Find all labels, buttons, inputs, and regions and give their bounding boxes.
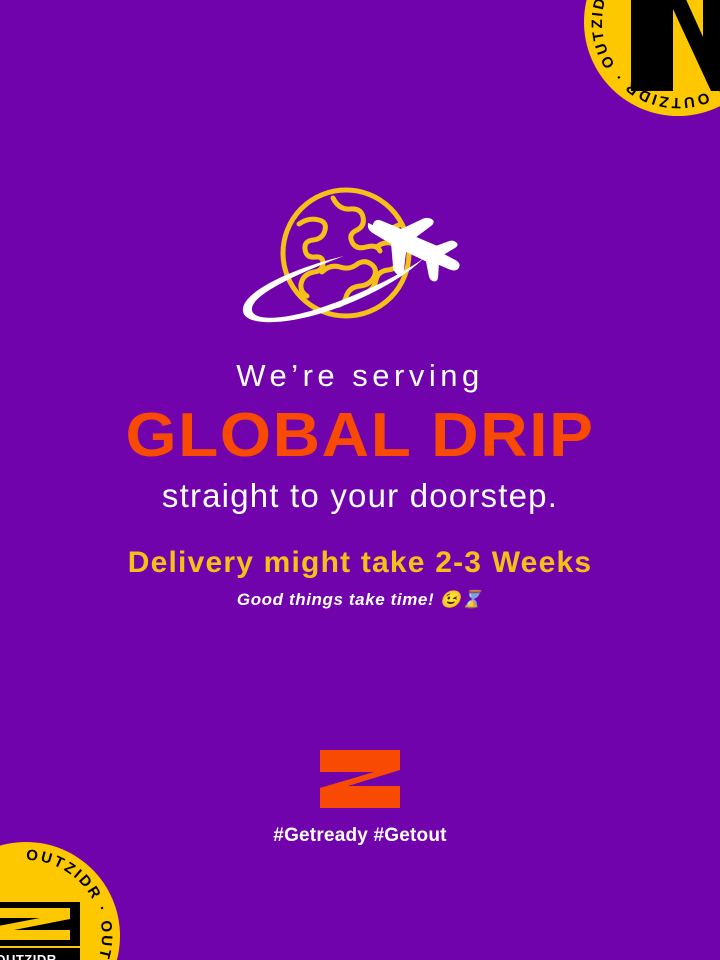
brand-badge-bottom-left: OUTZIDR · OUTZIDR · OUTZIDR · OUTZIDR · … — [0, 842, 120, 960]
z-logo-icon — [609, 0, 720, 97]
subhead-text: straight to your doorstep. — [0, 479, 720, 512]
page-title: GLOBAL DRIP — [0, 405, 720, 479]
badge-z-block — [0, 902, 80, 946]
z-logo-icon — [318, 748, 402, 810]
footer-tagline: #Getready #Getout — [273, 826, 446, 845]
outzidr-z-logo — [318, 748, 402, 810]
z-logo-icon — [0, 907, 72, 941]
promo-poster: We’re serving GLOBAL DRIP straight to yo… — [0, 0, 720, 960]
footer-block: #Getready #Getout — [0, 748, 720, 845]
outzidr-wordmark: OUTZIDR — [0, 951, 74, 960]
delivery-estimate-text: Delivery might take 2-3 Weeks — [0, 548, 720, 591]
brand-badge-top-right: OUTZIDR · OUTZIDR · OUTZIDR · OUTZIDR · — [584, 0, 720, 116]
badge-wordmark-text: OUTZIDR — [0, 952, 57, 960]
kicker-text: We’re serving — [0, 360, 720, 405]
badge-wordmark-block: OUTZIDR — [0, 948, 80, 960]
badge-core-bottom-left: OUTZIDR — [0, 899, 86, 960]
badge-mark-top-right — [609, 0, 720, 97]
delivery-notice-block: Delivery might take 2-3 Weeks Good thing… — [0, 548, 720, 608]
hero-globe-illustration — [0, 176, 720, 342]
main-copy-block: We’re serving GLOBAL DRIP straight to yo… — [0, 360, 720, 512]
delivery-note-text: Good things take time! 😉⌛ — [0, 591, 720, 608]
globe-with-airplane-icon — [236, 176, 484, 342]
